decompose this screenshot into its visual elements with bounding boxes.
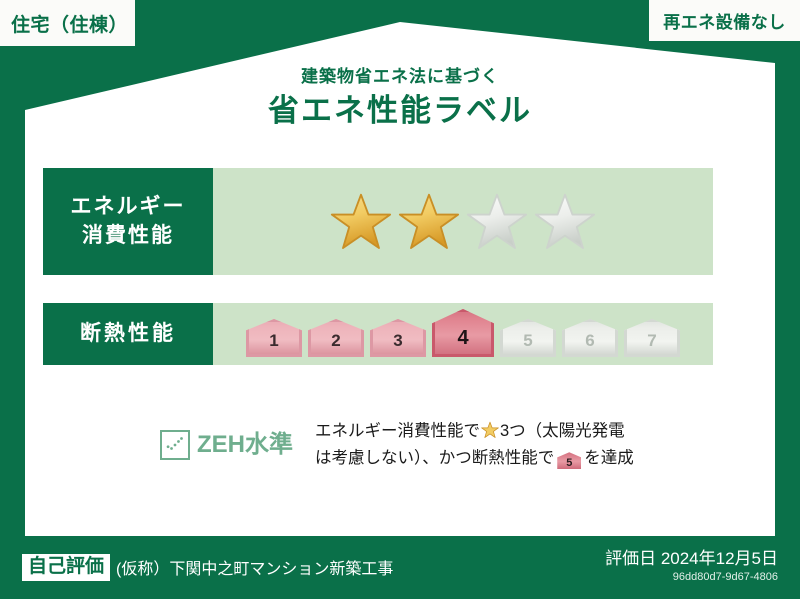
insulation-level-2-number: 2 bbox=[331, 332, 340, 357]
title-block: 建築物省エネ法に基づく 省エネ性能ラベル bbox=[0, 66, 800, 132]
renewable-equipment-tag: 再エネ設備なし bbox=[649, 0, 800, 41]
star-3-empty-icon bbox=[466, 191, 528, 253]
building-type-tag: 住宅（住棟） bbox=[0, 0, 135, 46]
insulation-level-6: 6 bbox=[562, 319, 618, 357]
insulation-level-5-number: 5 bbox=[523, 332, 532, 357]
page-title: 省エネ性能ラベル bbox=[0, 90, 800, 132]
energy-consumption-rating bbox=[213, 168, 713, 275]
insulation-level-6-number: 6 bbox=[585, 332, 594, 357]
insulation-performance-rating: 1 2 3 4 5 bbox=[213, 303, 713, 365]
insulation-level-5: 5 bbox=[500, 319, 556, 357]
insulation-performance-label: 断熱性能 bbox=[43, 303, 213, 365]
inline-insulation-badge-number: 5 bbox=[557, 452, 581, 474]
inline-star-icon bbox=[481, 421, 499, 439]
insulation-level-2: 2 bbox=[308, 319, 364, 357]
zeh-description: エネルギー消費性能で3つ（太陽光発電は考慮しない）、かつ断熱性能で5を達成 bbox=[315, 418, 680, 472]
energy-consumption-label-line1: エネルギー bbox=[71, 193, 186, 221]
evaluation-id: 96dd80d7-9d67-4806 bbox=[605, 569, 778, 586]
footer-left: 自己評価 (仮称）下関中之町マンション新築工事 bbox=[0, 554, 605, 582]
insulation-level-4-selected: 4 bbox=[432, 309, 494, 357]
insulation-performance-row: 断熱性能 1 2 3 4 bbox=[43, 303, 713, 365]
insulation-level-scale: 1 2 3 4 5 bbox=[246, 309, 680, 359]
footer-right: 評価日 2024年12月5日 96dd80d7-9d67-4806 bbox=[605, 549, 800, 586]
star-1-filled-icon bbox=[330, 191, 392, 253]
star-rating bbox=[330, 191, 596, 253]
zeh-dotted-check-icon bbox=[160, 430, 190, 460]
energy-consumption-label-line2: 消費性能 bbox=[82, 222, 174, 250]
building-type-tag-label: 住宅（住棟） bbox=[11, 10, 128, 37]
insulation-level-3: 3 bbox=[370, 319, 426, 357]
insulation-level-7-number: 7 bbox=[647, 332, 656, 357]
evaluation-date: 評価日 2024年12月5日 bbox=[605, 549, 778, 569]
insulation-level-3-number: 3 bbox=[393, 332, 402, 357]
insulation-level-1: 1 bbox=[246, 319, 302, 357]
zeh-desc-star-count: 3つ（太陽光発電 bbox=[500, 422, 625, 440]
zeh-logo: ZEH水準 bbox=[160, 430, 293, 460]
evaluation-type-badge: 自己評価 bbox=[22, 554, 110, 582]
zeh-desc-line2-part1: は考慮しない）、かつ断熱性能で bbox=[315, 449, 554, 467]
renewable-equipment-tag-label: 再エネ設備なし bbox=[663, 8, 786, 33]
energy-consumption-row: エネルギー 消費性能 bbox=[43, 168, 713, 275]
insulation-level-7: 7 bbox=[624, 319, 680, 357]
insulation-level-4-number: 4 bbox=[457, 328, 468, 357]
insulation-performance-label-text: 断熱性能 bbox=[80, 320, 176, 348]
inline-insulation-badge: 5 bbox=[557, 452, 581, 469]
star-2-filled-icon bbox=[398, 191, 460, 253]
energy-consumption-label: エネルギー 消費性能 bbox=[43, 168, 213, 275]
insulation-level-1-number: 1 bbox=[269, 332, 278, 357]
zeh-standard-section: ZEH水準 エネルギー消費性能で3つ（太陽光発電は考慮しない）、かつ断熱性能で5… bbox=[160, 418, 680, 472]
project-name: (仮称）下関中之町マンション新築工事 bbox=[116, 555, 393, 579]
zeh-desc-part1: エネルギー消費性能で bbox=[315, 422, 480, 440]
footer: 自己評価 (仮称）下関中之町マンション新築工事 評価日 2024年12月5日 9… bbox=[0, 536, 800, 599]
zeh-desc-line2-part2: を達成 bbox=[584, 449, 634, 467]
zeh-logo-label: ZEH水準 bbox=[197, 433, 293, 457]
star-4-empty-icon bbox=[534, 191, 596, 253]
title-subtitle: 建築物省エネ法に基づく bbox=[0, 66, 800, 88]
energy-performance-label: 住宅（住棟） 再エネ設備なし 建築物省エネ法に基づく 省エネ性能ラベル エネルギ… bbox=[0, 0, 800, 599]
